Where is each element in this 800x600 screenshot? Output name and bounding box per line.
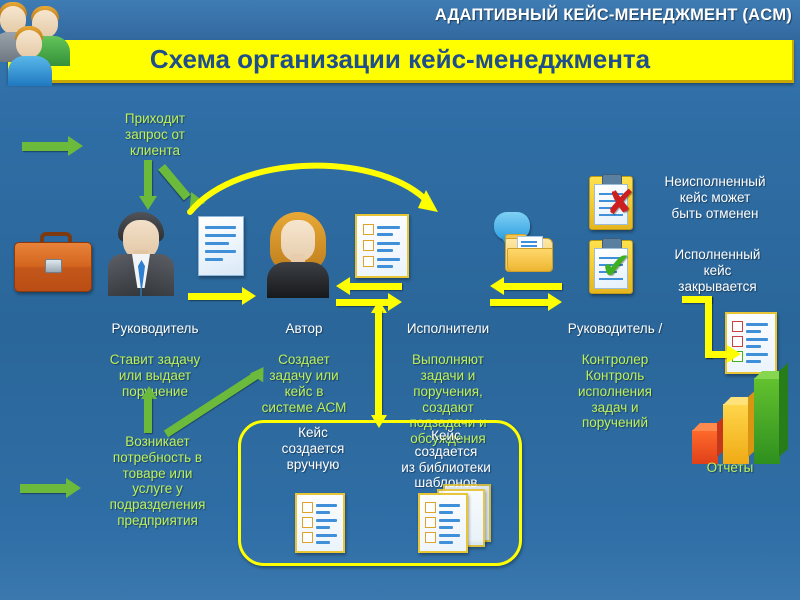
role-title-performers: Исполнители (407, 321, 489, 336)
role-title-author: Автор (286, 321, 323, 336)
arrow-manager-to-author (188, 288, 258, 306)
arrow-controller-to-reports (682, 296, 738, 372)
businesswoman-icon (265, 212, 331, 298)
role-label-controller: Руководитель / Контролер Контроль исполн… (540, 305, 690, 431)
role-title-manager: Руководитель (112, 321, 199, 336)
status-label-unfulfilled: Неисполненный кейс может быть отменен (635, 174, 795, 221)
folder-document-icon (505, 234, 553, 272)
role-title-controller: Руководитель / (568, 321, 662, 336)
header-eyebrow: АДАПТИВНЫЙ КЕЙС-МЕНЕДЖМЕНТ (ACM) (435, 6, 792, 25)
done-mark-icon: ✔ (601, 248, 631, 284)
businessman-icon (108, 212, 174, 298)
case-creation-label-manual: Кейс создается вручную (253, 425, 373, 472)
bar-yellow (723, 404, 749, 464)
arrow-need-to-manager (140, 386, 158, 436)
entry-arrow-top (22, 136, 84, 156)
slide-canvas: АДАПТИВНЫЙ КЕЙС-МЕНЕДЖМЕНТ (ACM) Схема о… (0, 0, 800, 600)
status-label-fulfilled: Исполненный кейс закрывается (640, 247, 795, 294)
bar-orange (692, 430, 718, 464)
title-banner: Схема организации кейс-менеджмента (8, 40, 794, 83)
label-need-arises: Возникает потребность в товаре или услуг… (85, 434, 230, 529)
client-request-arrow-left (139, 160, 159, 210)
document-icon (198, 216, 244, 276)
case-creation-label-template: Кейс создается из библиотеки шаблонов (382, 428, 510, 491)
briefcase-icon (14, 232, 92, 294)
entry-arrow-bottom (20, 478, 82, 498)
bar-green (754, 378, 780, 464)
reports-label: Отчеты (680, 460, 780, 476)
bar-chart-icon (690, 368, 785, 464)
checklist-document-icon (355, 214, 409, 278)
cancel-mark-icon: ✘ (606, 186, 635, 220)
arrow-author-case-bidirectional (370, 300, 388, 430)
role-detail-controller: Контролер Контроль исполнения задач и по… (578, 352, 652, 430)
page-title: Схема организации кейс-менеджмента (8, 44, 792, 75)
document-stack-icon (418, 493, 468, 553)
feedback-arc-arrow (180, 150, 450, 220)
